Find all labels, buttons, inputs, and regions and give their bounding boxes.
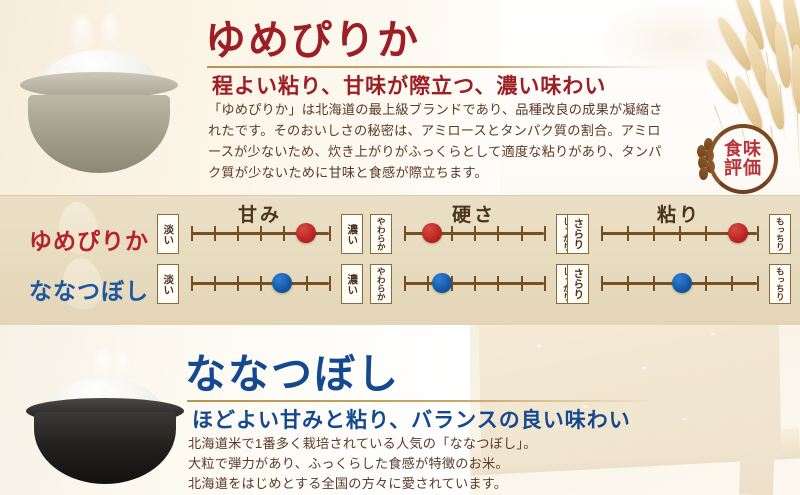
- badge-line-1: 食味: [724, 140, 762, 159]
- subtitle-yumepirika: 程よい粘り、甘味が際立つ、濃い味わい: [212, 70, 682, 100]
- axis-tick: [237, 276, 239, 291]
- axis-label-left-硬さ: やわらか: [370, 214, 392, 254]
- axis-tick: [544, 226, 546, 241]
- data-point-粘り-ななつぼし: [672, 273, 692, 293]
- axis-tick: [544, 276, 546, 291]
- metric-group-粘り: 粘りさらりもっちりさらりもっちり: [565, 195, 793, 325]
- chart-row-label-nanatsuboshi: ななつぼし: [14, 272, 164, 306]
- data-point-粘り-ゆめぴりか: [728, 223, 748, 243]
- taste-evaluation-badge: 食味 評価: [700, 120, 786, 206]
- axis-tick: [306, 276, 308, 291]
- axis-tick: [404, 276, 406, 291]
- axis-label-left-硬さ: やわらか: [370, 264, 392, 304]
- data-point-甘み-ゆめぴりか: [296, 223, 316, 243]
- axis-label-left-粘り: さらり: [567, 264, 589, 304]
- axis-tick: [191, 276, 193, 291]
- axis-tick: [653, 226, 655, 241]
- description-nanatsuboshi: 北海道米で1番多く栽培されている人気の「ななつぼし」。 大粒で弾力があり、ふっく…: [188, 434, 638, 494]
- axis-tick: [191, 226, 193, 241]
- axis-tick: [705, 276, 707, 291]
- axis-tick: [427, 276, 429, 291]
- description-line-2: 大粒で弾力があり、ふっくらした食感が特徴のお米。: [188, 454, 638, 474]
- axis-label-left-甘み: 淡い: [157, 214, 179, 254]
- axis-tick: [214, 276, 216, 291]
- axis-label-right-粘り: もっちり: [769, 214, 791, 254]
- metric-group-硬さ: 硬さやわらかしっかりやわらかしっかり: [368, 195, 580, 325]
- axis-label-right-粘り: もっちり: [769, 264, 791, 304]
- badge-line-2: 評価: [724, 159, 762, 178]
- axis-tick: [474, 226, 476, 241]
- data-point-硬さ-ななつぼし: [432, 273, 452, 293]
- axis-tick: [260, 276, 262, 291]
- data-point-甘み-ななつぼし: [272, 273, 292, 293]
- axis-label-left-粘り: さらり: [567, 214, 589, 254]
- axis-tick: [679, 226, 681, 241]
- axis-硬さ-ななつぼし: やわらかしっかり: [368, 266, 580, 300]
- axis-tick: [497, 226, 499, 241]
- yumepirika-rice-bowl-image: [14, 14, 184, 179]
- page-title-yumepirika: ゆめぴりか: [205, 18, 675, 63]
- subtitle-nanatsuboshi: ほどよい甘みと粘り、バランスの良い味わい: [192, 404, 662, 434]
- axis-tick: [731, 276, 733, 291]
- description-yumepirika: 「ゆめぴりか」は北海道の最上級ブランドであり、品種改良の成果が凝縮されたです。そ…: [208, 100, 663, 183]
- metric-group-甘み: 甘み淡い濃い淡い濃い: [155, 195, 365, 325]
- title-divider-bottom: [187, 400, 657, 402]
- axis-tick: [214, 226, 216, 241]
- axis-tick: [237, 226, 239, 241]
- axis-甘み-ななつぼし: 淡い濃い: [155, 266, 365, 300]
- axis-tick: [283, 226, 285, 241]
- description-line-1: 北海道米で1番多く栽培されている人気の「ななつぼし」。: [188, 434, 638, 454]
- axis-甘み-ゆめぴりか: 淡い濃い: [155, 216, 365, 250]
- axis-tick: [474, 276, 476, 291]
- axis-tick: [329, 276, 331, 291]
- page-title-nanatsuboshi: ななつぼし: [185, 352, 655, 397]
- axis-tick: [404, 226, 406, 241]
- axis-tick: [329, 226, 331, 241]
- axis-tick: [451, 226, 453, 241]
- axis-粘り-ゆめぴりか: さらりもっちり: [565, 216, 793, 250]
- axis-label-left-甘み: 淡い: [157, 264, 179, 304]
- axis-硬さ-ゆめぴりか: やわらかしっかり: [368, 216, 580, 250]
- axis-tick: [627, 276, 629, 291]
- infographic-root: ゆめぴりか 程よい粘り、甘味が際立つ、濃い味わい 「ゆめぴりか」は北海道の最上級…: [0, 0, 800, 495]
- badge-text: 食味 評価: [708, 124, 778, 194]
- axis-tick: [705, 226, 707, 241]
- axis-tick: [627, 226, 629, 241]
- title-divider-top: [207, 66, 667, 68]
- axis-tick: [260, 226, 262, 241]
- axis-tick: [497, 276, 499, 291]
- axis-tick: [757, 226, 759, 241]
- axis-粘り-ななつぼし: さらりもっちり: [565, 266, 793, 300]
- nanatsuboshi-rice-bowl-image: [20, 350, 190, 490]
- axis-tick: [521, 276, 523, 291]
- chart-row-label-yumepirika: ゆめぴりか: [14, 222, 164, 256]
- axis-tick: [601, 276, 603, 291]
- axis-tick: [521, 226, 523, 241]
- description-line-3: 北海道をはじめとする全国の方々に愛されています。: [188, 474, 638, 494]
- axis-tick: [653, 276, 655, 291]
- axis-label-right-甘み: 濃い: [341, 214, 363, 254]
- data-point-硬さ-ゆめぴりか: [422, 223, 442, 243]
- axis-tick: [601, 226, 603, 241]
- axis-label-right-甘み: 濃い: [341, 264, 363, 304]
- axis-tick: [757, 276, 759, 291]
